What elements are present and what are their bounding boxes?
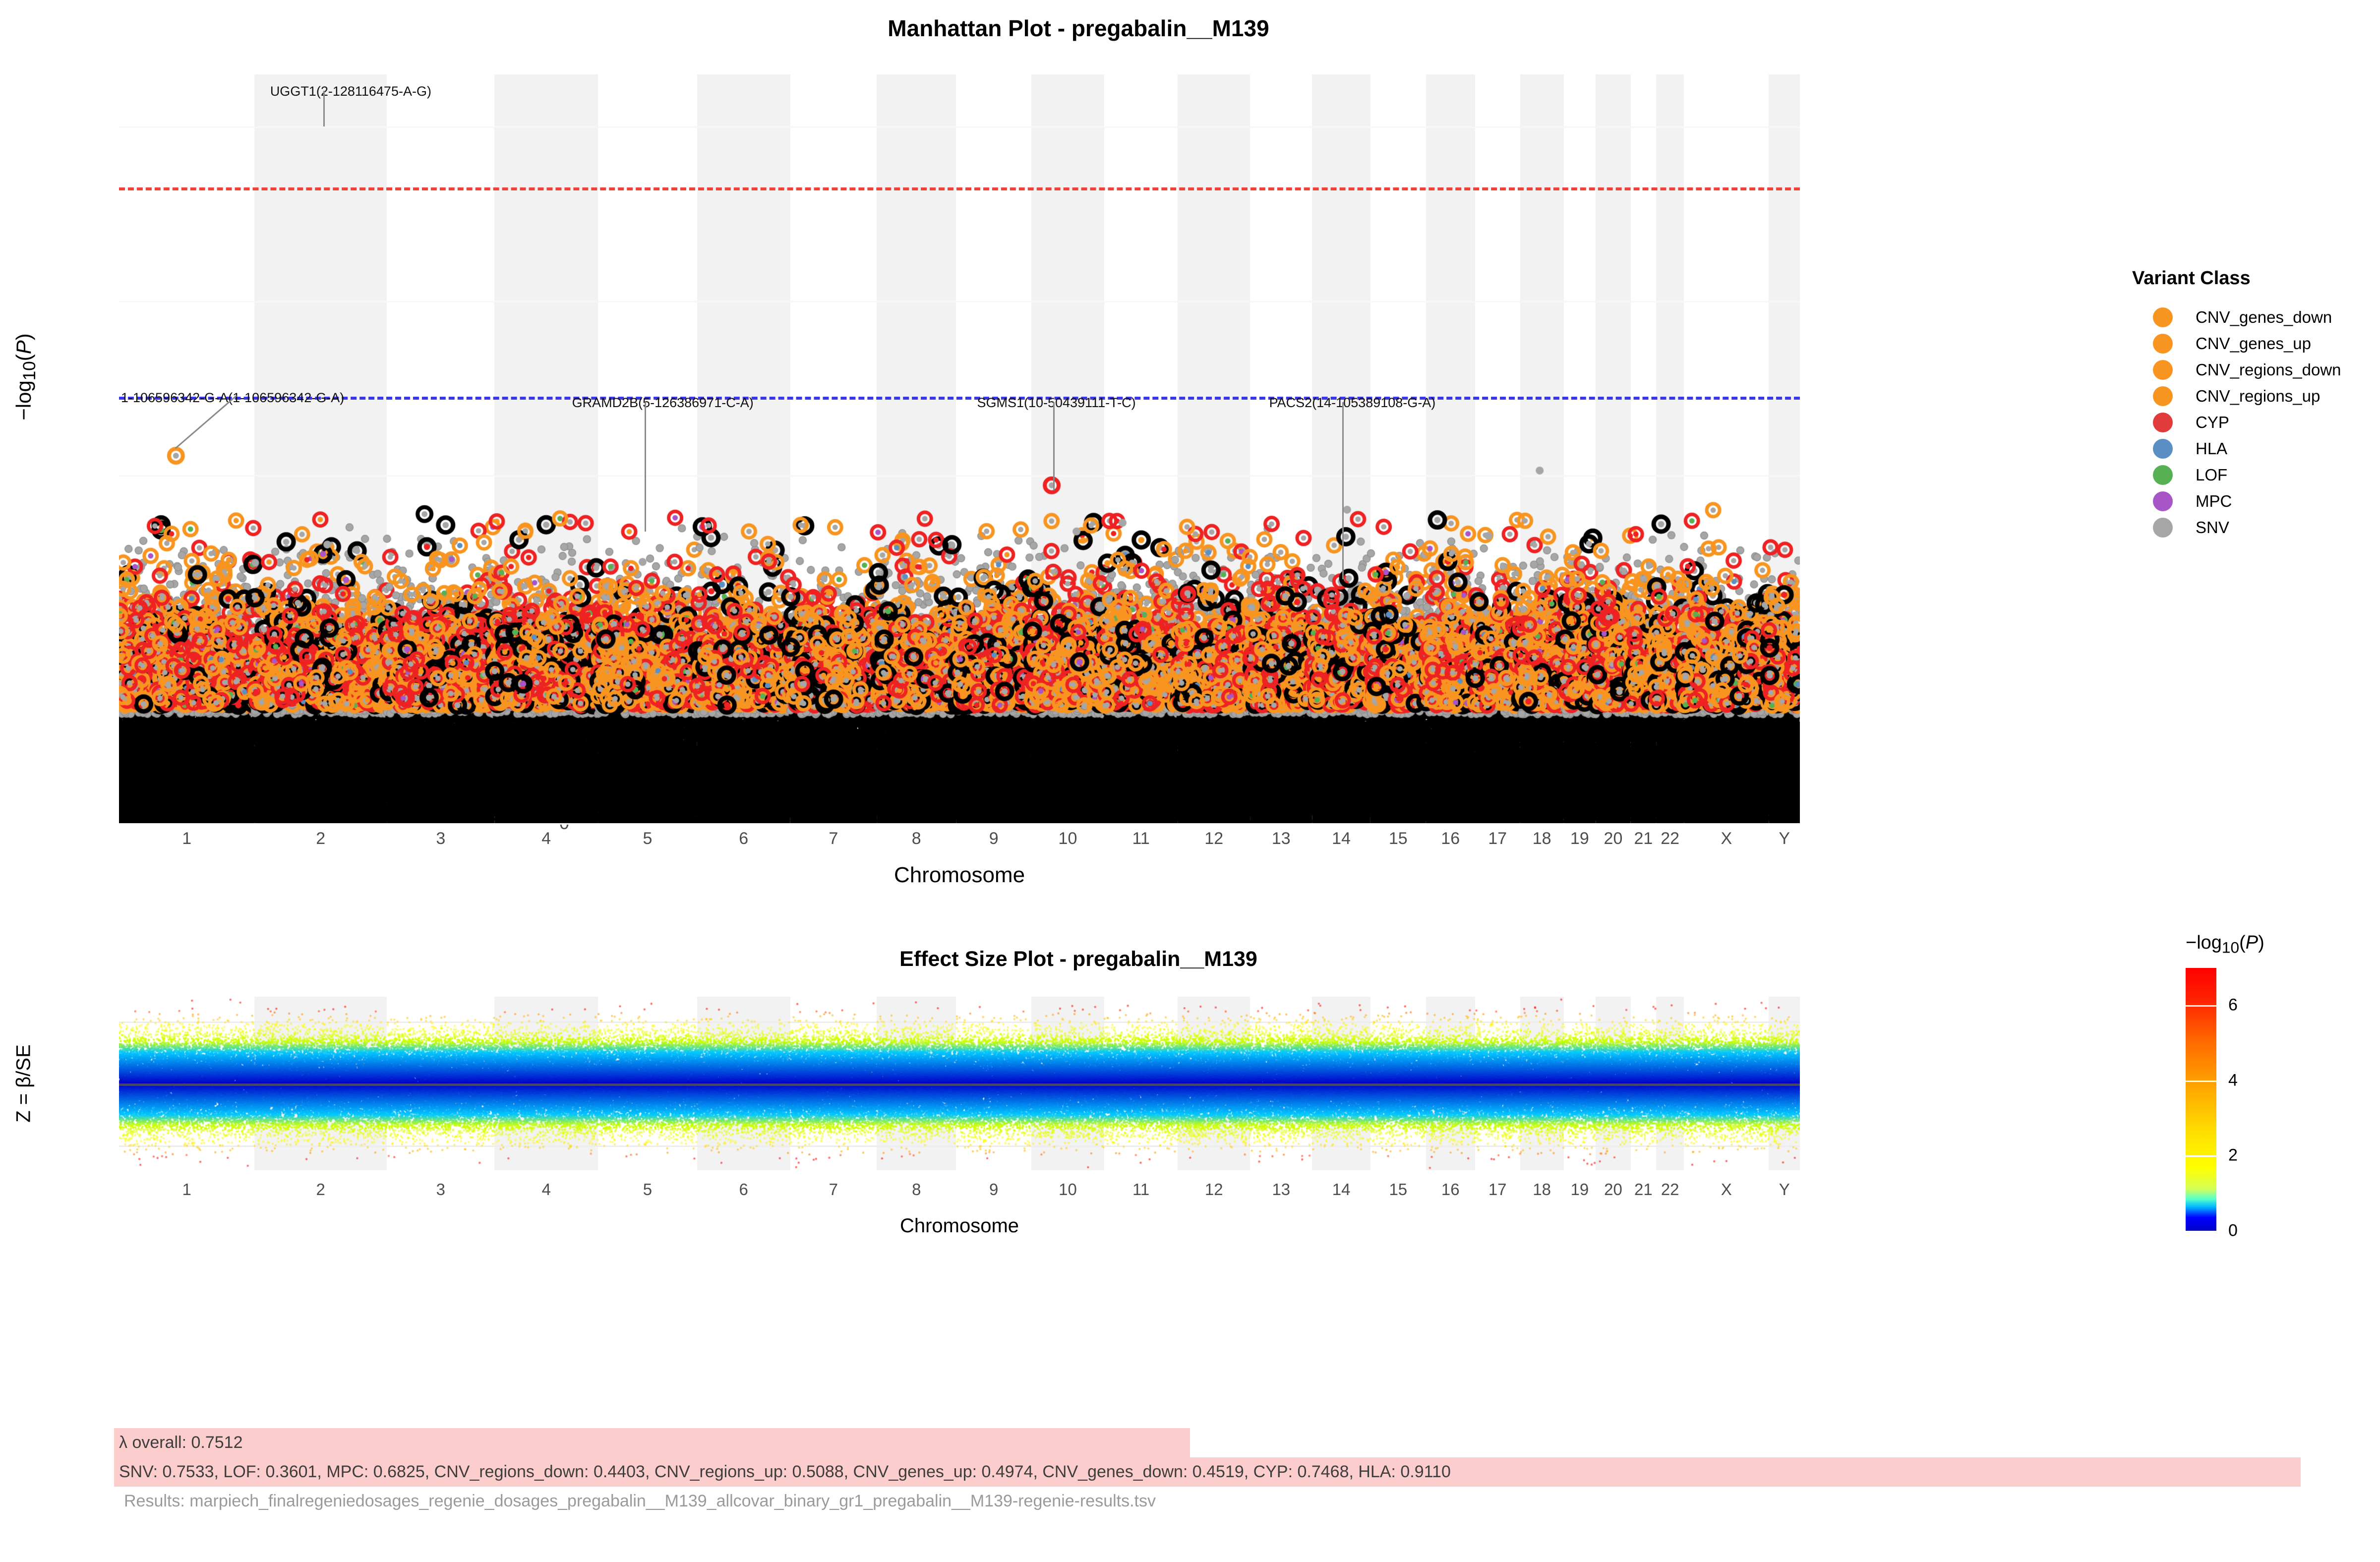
legend-color-swatch	[2153, 518, 2173, 538]
manhattan-x-tick-22: 22	[1661, 829, 1679, 848]
effect-x-tick-18: 18	[1533, 1180, 1551, 1199]
legend-item-label: CYP	[2196, 413, 2229, 432]
effect-x-tick-21: 21	[1634, 1180, 1653, 1199]
colorbar-title: −log10(P)	[2186, 932, 2380, 957]
colorbar-tick-mark	[2186, 1155, 2216, 1157]
manhattan-x-tick-X: X	[1721, 829, 1732, 848]
manhattan-x-tick-17: 17	[1488, 829, 1507, 848]
manhattan-x-tick-13: 13	[1272, 829, 1291, 848]
variant-annotation-leader-line	[323, 91, 325, 127]
variant-annotation-leader-line	[1342, 402, 1344, 579]
variant-annotation-label: UGGT1(2-128116475-A-G)	[270, 84, 431, 99]
legend-color-swatch	[2153, 413, 2173, 432]
legend-item-cnv_genes_up[interactable]: CNV_genes_up	[2132, 330, 2365, 357]
pvalue-colorbar-legend: −log10(P) 0246	[2172, 932, 2380, 1231]
manhattan-x-tick-18: 18	[1533, 829, 1551, 848]
manhattan-x-tick-4: 4	[541, 829, 551, 848]
manhattan-x-tick-11: 11	[1132, 829, 1149, 848]
legend-color-swatch	[2153, 465, 2173, 485]
legend-item-label: HLA	[2196, 439, 2227, 458]
effect-x-tick-12: 12	[1205, 1180, 1223, 1199]
effect-x-tick-7: 7	[829, 1180, 838, 1199]
effect-x-tick-11: 11	[1132, 1180, 1149, 1199]
footer-summary: λ overall: 0.7512 SNV: 0.7533, LOF: 0.36…	[0, 1428, 2380, 1516]
manhattan-x-tick-2: 2	[316, 829, 325, 848]
manhattan-x-tick-3: 3	[436, 829, 445, 848]
manhattan-x-tick-12: 12	[1204, 829, 1223, 848]
manhattan-x-tick-14: 14	[1332, 829, 1351, 848]
effect-x-tick-16: 16	[1441, 1180, 1460, 1199]
manhattan-plot-title: Manhattan Plot - pregabalin__M139	[0, 15, 2157, 42]
effect-x-tick-14: 14	[1332, 1180, 1351, 1199]
manhattan-x-tick-5: 5	[643, 829, 652, 848]
manhattan-scatter-canvas	[119, 74, 1800, 823]
lambda-overall-text: λ overall: 0.7512	[114, 1428, 1190, 1457]
effect-x-tick-13: 13	[1272, 1180, 1290, 1199]
genome-wide-threshold-line	[119, 187, 1800, 190]
colorbar-gradient	[2186, 968, 2216, 1231]
variant-annotation-leader-line	[1053, 402, 1055, 490]
effect-x-tick-10: 10	[1059, 1180, 1077, 1199]
manhattan-x-axis-label: Chromosome	[119, 863, 1800, 888]
effect-x-tick-17: 17	[1488, 1180, 1507, 1199]
manhattan-y-axis-label: −log10(P)	[12, 333, 40, 421]
manhattan-plot-panel: Manhattan Plot - pregabalin__M139 −log10…	[0, 0, 2380, 922]
manhattan-x-tick-19: 19	[1570, 829, 1589, 848]
variant-annotation-label: PACS2(14-105389108-G-A)	[1269, 395, 1436, 411]
legend-item-snv[interactable]: SNV	[2132, 514, 2365, 541]
effect-size-plot-title: Effect Size Plot - pregabalin__M139	[0, 947, 2157, 971]
effect-x-tick-3: 3	[436, 1180, 445, 1199]
variant-annotation-label: GRAMD2B(5-126386971-C-A)	[572, 395, 754, 411]
lambda-per-class-text: SNV: 0.7533, LOF: 0.3601, MPC: 0.6825, C…	[114, 1457, 2301, 1487]
manhattan-x-tick-1: 1	[182, 829, 191, 848]
effect-x-tick-8: 8	[912, 1180, 921, 1199]
colorbar-tick-mark	[2186, 1231, 2216, 1232]
legend-item-cnv_genes_down[interactable]: CNV_genes_down	[2132, 304, 2365, 330]
suggestive-threshold-line	[119, 397, 1800, 400]
effect-x-tick-6: 6	[739, 1180, 748, 1199]
effect-x-tick-4: 4	[542, 1180, 551, 1199]
legend-item-label: LOF	[2196, 466, 2227, 484]
legend-item-label: MPC	[2196, 492, 2232, 511]
effect-x-tick-X: X	[1721, 1180, 1732, 1199]
effect-x-tick-20: 20	[1604, 1180, 1622, 1199]
variant-class-legend-title: Variant Class	[2132, 268, 2365, 289]
legend-item-lof[interactable]: LOF	[2132, 462, 2365, 488]
legend-color-swatch	[2153, 491, 2173, 511]
variant-annotation-leader-line	[645, 402, 646, 532]
effect-x-tick-9: 9	[989, 1180, 998, 1199]
legend-color-swatch	[2153, 334, 2173, 354]
legend-color-swatch	[2153, 360, 2173, 380]
effect-x-tick-2: 2	[316, 1180, 325, 1199]
legend-item-cnv_regions_down[interactable]: CNV_regions_down	[2132, 357, 2365, 383]
legend-item-label: CNV_genes_down	[2196, 308, 2332, 327]
legend-item-cnv_regions_up[interactable]: CNV_regions_up	[2132, 383, 2365, 409]
legend-item-mpc[interactable]: MPC	[2132, 488, 2365, 514]
effect-plot-area	[119, 997, 1800, 1170]
legend-item-label: CNV_regions_up	[2196, 387, 2320, 406]
manhattan-x-tick-21: 21	[1634, 829, 1653, 848]
legend-color-swatch	[2153, 307, 2173, 327]
colorbar-tick-label: 4	[2228, 1071, 2238, 1090]
legend-color-swatch	[2153, 386, 2173, 406]
effect-size-plot-panel: Effect Size Plot - pregabalin__M139 Z = …	[0, 922, 2380, 1354]
legend-item-cyp[interactable]: CYP	[2132, 409, 2365, 435]
legend-color-swatch	[2153, 439, 2173, 459]
effect-x-tick-5: 5	[643, 1180, 652, 1199]
effect-x-axis-label: Chromosome	[119, 1215, 1800, 1237]
manhattan-x-tick-15: 15	[1389, 829, 1408, 848]
colorbar-tick-label: 2	[2228, 1146, 2238, 1165]
legend-item-label: SNV	[2196, 518, 2229, 537]
variant-annotation-label: SGMS1(10-50439111-T-C)	[977, 395, 1135, 411]
manhattan-plot-area: UGGT1(2-128116475-A-G)1-106596342-G-A(1-…	[119, 74, 1800, 823]
colorbar-tick-mark	[2186, 1005, 2216, 1007]
effect-x-tick-1: 1	[182, 1180, 191, 1199]
effect-x-tick-22: 22	[1661, 1180, 1679, 1199]
effect-zero-line	[119, 1083, 1800, 1086]
results-file-text: Results: marpiech_finalregeniedosages_re…	[119, 1487, 2380, 1516]
colorbar-tick-mark	[2186, 1081, 2216, 1082]
manhattan-x-tick-9: 9	[989, 829, 999, 848]
manhattan-x-tick-8: 8	[912, 829, 921, 848]
manhattan-x-tick-7: 7	[829, 829, 838, 848]
colorbar-tick-label: 0	[2228, 1221, 2238, 1240]
manhattan-x-tick-16: 16	[1441, 829, 1460, 848]
legend-item-label: CNV_genes_up	[2196, 334, 2311, 353]
manhattan-x-tick-6: 6	[739, 829, 748, 848]
variant-class-legend: Variant Class CNV_genes_downCNV_genes_up…	[2132, 268, 2365, 541]
colorbar-wrapper: 0246	[2186, 968, 2380, 1231]
effect-x-tick-19: 19	[1571, 1180, 1589, 1199]
variant-class-legend-items: CNV_genes_downCNV_genes_upCNV_regions_do…	[2132, 304, 2365, 541]
legend-item-label: CNV_regions_down	[2196, 360, 2341, 379]
effect-x-tick-Y: Y	[1779, 1180, 1790, 1199]
colorbar-tick-label: 6	[2228, 996, 2238, 1015]
manhattan-x-tick-Y: Y	[1779, 829, 1790, 848]
effect-y-axis-label: Z = β/SE	[13, 1044, 35, 1123]
manhattan-x-tick-10: 10	[1059, 829, 1077, 848]
effect-x-tick-15: 15	[1389, 1180, 1407, 1199]
manhattan-x-tick-20: 20	[1604, 829, 1623, 848]
legend-item-hla[interactable]: HLA	[2132, 435, 2365, 462]
manhattan-gridline	[119, 823, 1800, 825]
